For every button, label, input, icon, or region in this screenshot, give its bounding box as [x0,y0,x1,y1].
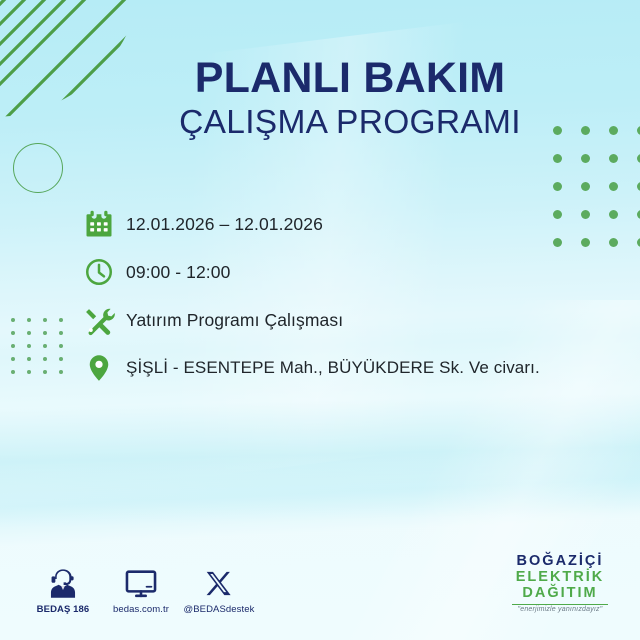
x-twitter-icon [205,565,234,599]
monitor-icon [125,565,157,599]
calendar-icon [84,203,126,245]
location-pin-icon [84,347,126,389]
detail-date-text: 12.01.2026 – 12.01.2026 [126,214,323,235]
brand-slogan: "enerjimizle yanınızdayız" [492,606,628,613]
brand-logo-line-3: DAĞITIM [492,585,628,601]
detail-time-text: 09:00 - 12:00 [126,262,230,283]
footer-contact-bar: BEDAŞ 186 bedas.com.tr @BEDASdestek [24,565,258,615]
footer-label-website: bedas.com.tr [113,604,169,615]
detail-work-type-text: Yatırım Programı Çalışması [126,310,343,331]
detail-row-date: 12.01.2026 – 12.01.2026 [84,200,624,248]
planned-maintenance-poster: PLANLI BAKIM ÇALIŞMA PROGRAMI [0,0,640,640]
brand-logo-line-2: ELEKTRİK [492,569,628,585]
page-title: PLANLI BAKIM ÇALIŞMA PROGRAMI [140,57,560,140]
background-wave-band-2 [0,435,640,549]
diagonal-stripes-decoration [0,0,142,117]
footer-item-website[interactable]: bedas.com.tr [102,565,180,615]
brand-logo-line-1: BOĞAZİÇİ [492,553,628,569]
footer-item-social[interactable]: @BEDASdestek [180,565,258,615]
footer-label-call-center: BEDAŞ 186 [37,604,90,615]
brand-logo: BOĞAZİÇİ ELEKTRİK DAĞITIM "enerjimizle y… [492,553,628,613]
page-title-line-1: PLANLI BAKIM [140,57,560,100]
footer-item-call-center[interactable]: BEDAŞ 186 [24,565,102,615]
tools-icon [84,299,126,341]
footer-label-social: @BEDASdestek [183,604,254,615]
maintenance-details-list: 12.01.2026 – 12.01.2026 09:00 - 12:00 [84,200,624,392]
detail-row-time: 09:00 - 12:00 [84,248,624,296]
background-wave-band-1 [0,390,640,530]
detail-location-text: ŞİŞLİ - ESENTEPE Mah., BÜYÜKDERE Sk. Ve … [126,358,540,378]
support-headset-icon [48,565,78,599]
brand-logo-divider [512,604,608,605]
circle-outline-decoration [13,143,63,193]
dot-grid-left-decoration [11,318,75,383]
detail-row-location: ŞİŞLİ - ESENTEPE Mah., BÜYÜKDERE Sk. Ve … [84,344,624,392]
page-title-line-2: ÇALIŞMA PROGRAMI [140,106,560,140]
clock-icon [84,251,126,293]
detail-row-work-type: Yatırım Programı Çalışması [84,296,624,344]
